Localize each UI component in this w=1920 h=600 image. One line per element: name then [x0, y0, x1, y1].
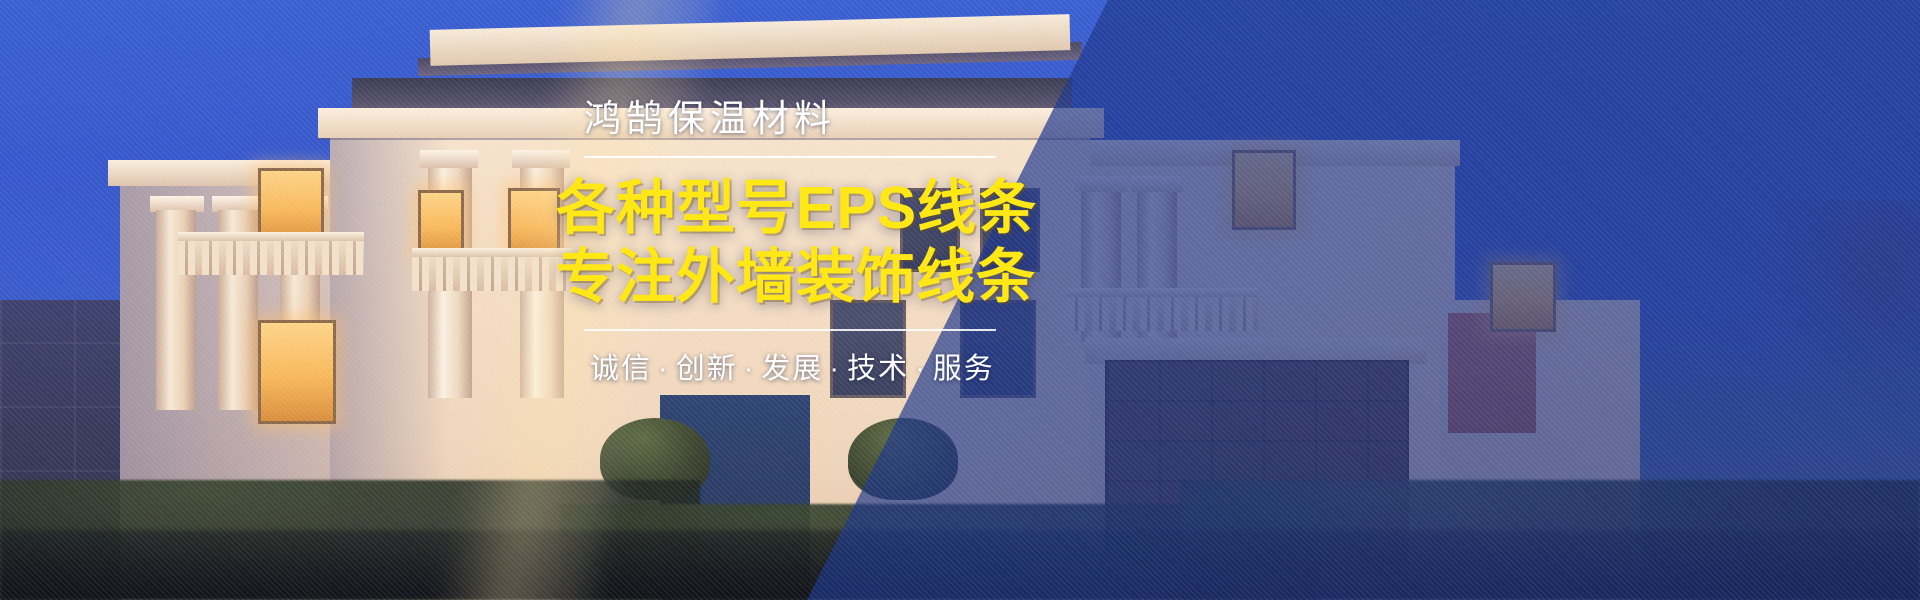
tagline-item: 诚信 [590, 353, 652, 385]
tagline-separator: · [738, 353, 762, 385]
tagline-item: 服务 [933, 353, 995, 385]
tagline: 诚信·创新·发展·技术·服务 [590, 345, 1026, 387]
balustrade-left [178, 241, 364, 275]
headline-line-1: 各种型号EPS线条 [556, 174, 1026, 242]
tagline-item: 发展 [761, 353, 823, 385]
headline-line-2: 专注外墙装饰线条 [556, 243, 1026, 311]
window-glow-2 [258, 320, 336, 424]
banner-text-block: 鸿鹄保温材料 各种型号EPS线条 专注外墙装饰线条 诚信·创新·发展·技术·服务 [556, 96, 1026, 387]
divider-top [584, 156, 996, 158]
brand-name: 鸿鹄保温材料 [584, 96, 1026, 142]
tagline-separator: · [652, 353, 676, 385]
tagline-item: 技术 [847, 353, 909, 385]
tagline-separator: · [823, 353, 847, 385]
headline: 各种型号EPS线条 专注外墙装饰线条 [556, 174, 1026, 311]
balcony-rail-left [178, 232, 364, 241]
tagline-separator: · [909, 353, 933, 385]
tagline-item: 创新 [676, 353, 738, 385]
promo-banner: 鸿鹄保温材料 各种型号EPS线条 专注外墙装饰线条 诚信·创新·发展·技术·服务 [0, 0, 1920, 600]
divider-bottom [584, 329, 996, 331]
